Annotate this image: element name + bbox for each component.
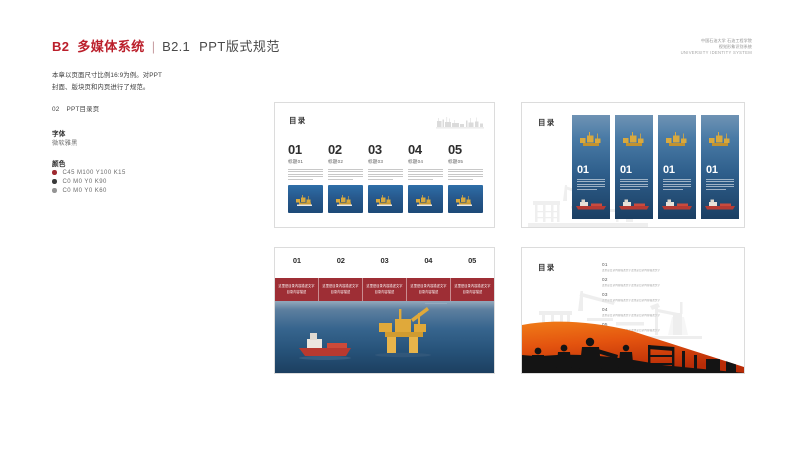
header-code: B2 xyxy=(52,39,69,54)
slide3-red-band: 这里是目录内容描述文字 目录内容描述 这里是目录内容描述文字 目录内容描述 这里… xyxy=(275,278,494,301)
header-sub-title: PPT版式规范 xyxy=(199,36,280,55)
column-text-lines xyxy=(288,169,323,180)
intro-text: 本章以页面尺寸比例16:9为例。对PPT 封面、版块页和内页进行了规范。 xyxy=(52,70,162,94)
color-swatch-list: C45 M100 Y100 K15 C0 M0 Y0 K90 C0 M0 Y0 … xyxy=(52,168,126,195)
column-number: 03 xyxy=(368,143,403,156)
slide4-item: 01 这里是目录内容描述文字这里是目录内容描述文字 xyxy=(602,262,728,272)
card-number: 01 xyxy=(663,165,675,176)
column-number: 04 xyxy=(408,143,443,156)
swatch-dot xyxy=(52,179,57,184)
slide4-heading: 目录 xyxy=(538,262,555,273)
slide3-number: 04 xyxy=(406,256,450,265)
band-line-1: 这里是目录内容描述文字 xyxy=(366,284,402,290)
slide1-column: 03 标题03 xyxy=(368,143,403,213)
slide1-column: 02 标题02 xyxy=(328,143,363,213)
column-number: 05 xyxy=(448,143,483,156)
band-cell: 这里是目录内容描述文字 目录内容描述 xyxy=(275,278,319,301)
oil-rig-skyline-icon xyxy=(436,115,484,129)
band-cell: 这里是目录内容描述文字 目录内容描述 xyxy=(319,278,363,301)
offshore-scene-graphic xyxy=(275,301,494,373)
supply-vessel-icon xyxy=(660,199,694,210)
supply-vessel-graphic xyxy=(299,333,351,356)
slide1-heading: 目录 xyxy=(289,115,306,126)
band-line-1: 这里是目录内容描述文字 xyxy=(278,284,314,290)
color-heading: 颜色 xyxy=(52,158,66,168)
column-label: 标题03 xyxy=(368,159,403,165)
slide4-item: 02 这里是目录内容描述文字这里是目录内容描述文字 xyxy=(602,277,728,287)
column-text-lines xyxy=(368,169,403,180)
header-divider: | xyxy=(152,39,155,54)
column-label: 标题04 xyxy=(408,159,443,165)
band-line-1: 这里是目录内容描述文字 xyxy=(410,284,446,290)
column-label: 标题02 xyxy=(328,159,363,165)
slide1-column: 04 标题04 xyxy=(408,143,443,213)
band-line-2: 目录内容描述 xyxy=(410,290,446,296)
band-line-2: 目录内容描述 xyxy=(366,290,402,296)
swatch-label: C0 M0 Y0 K90 xyxy=(63,179,107,185)
slide3-number-row: 01 02 03 04 05 xyxy=(275,256,494,265)
slide1-column: 05 标题05 xyxy=(448,143,483,213)
slide-preview-4[interactable]: 目录 01 这里是目录内容描述文字这里是目录内容描述文字 02 这里是目录内容描… xyxy=(521,247,745,374)
card-text-lines xyxy=(663,179,691,191)
card-text-lines xyxy=(577,179,605,191)
section-number: 02 xyxy=(52,106,60,113)
swatch-dot xyxy=(52,188,57,193)
card-number: 01 xyxy=(706,165,718,176)
header-sub-code: B2.1 xyxy=(162,39,190,54)
page-header: B2 多媒体系统 | B2.1 PPT版式规范 xyxy=(52,36,280,55)
slide3-number: 02 xyxy=(319,256,363,265)
slide2-heading: 目录 xyxy=(538,117,555,128)
band-line-1: 这里是目录内容描述文字 xyxy=(454,284,490,290)
color-swatch-row: C45 M100 Y100 K15 xyxy=(52,168,126,177)
item-number: 02 xyxy=(602,277,728,282)
band-cell: 这里是目录内容描述文字 目录内容描述 xyxy=(451,278,494,301)
column-label: 标题01 xyxy=(288,159,323,165)
slide2-card: 01 xyxy=(572,115,610,219)
column-text-lines xyxy=(448,169,483,180)
slide-preview-1[interactable]: 目录 01 标题01 xyxy=(274,102,495,228)
supply-vessel-icon xyxy=(703,199,737,210)
band-line-2: 目录内容描述 xyxy=(278,290,314,296)
guideline-page: B2 多媒体系统 | B2.1 PPT版式规范 中国石油大学 石油工程学院 视觉… xyxy=(0,0,799,450)
band-line-1: 这里是目录内容描述文字 xyxy=(322,284,358,290)
column-number: 01 xyxy=(288,143,323,156)
column-label: 标题05 xyxy=(448,159,483,165)
color-swatch-row: C0 M0 Y0 K60 xyxy=(52,186,126,195)
card-number: 01 xyxy=(577,165,589,176)
sunset-silhouette-graphic xyxy=(522,315,744,373)
slide2-card: 01 xyxy=(658,115,696,219)
font-heading: 字体 xyxy=(52,128,66,138)
slide1-columns: 01 标题01 02 标题02 03 标题03 xyxy=(288,143,483,213)
slide-preview-3[interactable]: 01 02 03 04 05 这里是目录内容描述文字 目录内容描述 这里是目录内… xyxy=(274,247,495,374)
column-text-lines xyxy=(408,169,443,180)
card-text-lines xyxy=(706,179,734,191)
band-cell: 这里是目录内容描述文字 目录内容描述 xyxy=(363,278,407,301)
color-swatch-row: C0 M0 Y0 K90 xyxy=(52,177,126,186)
slide2-cards: 01 01 01 01 xyxy=(572,115,739,219)
font-value: 微软雅黑 xyxy=(52,138,78,147)
card-text-lines xyxy=(620,179,648,191)
supply-vessel-icon xyxy=(617,199,651,210)
slide3-number: 03 xyxy=(363,256,407,265)
column-number: 02 xyxy=(328,143,363,156)
item-number: 01 xyxy=(602,262,728,267)
section-label: 02PPT目录页 xyxy=(52,104,99,113)
item-text: 这里是目录内容描述文字这里是目录内容描述文字 xyxy=(602,269,728,272)
card-number: 01 xyxy=(620,165,632,176)
swatch-label: C45 M100 Y100 K15 xyxy=(63,170,126,176)
column-thumbnail xyxy=(448,185,483,213)
slide3-number: 01 xyxy=(275,256,319,265)
band-line-2: 目录内容描述 xyxy=(322,290,358,296)
intro-line-1: 本章以页面尺寸比例16:9为例。对PPT xyxy=(52,70,162,82)
band-cell: 这里是目录内容描述文字 目录内容描述 xyxy=(407,278,451,301)
swatch-label: C0 M0 Y0 K60 xyxy=(63,188,107,194)
column-thumbnail xyxy=(368,185,403,213)
slide4-sunset-band xyxy=(522,315,744,373)
band-line-2: 目录内容描述 xyxy=(454,290,490,296)
slide3-number: 05 xyxy=(450,256,494,265)
section-name: PPT目录页 xyxy=(67,106,100,113)
swatch-dot xyxy=(52,170,57,175)
slide2-card: 01 xyxy=(701,115,739,219)
slide-preview-2[interactable]: 目录 01 xyxy=(521,102,745,228)
slide3-ocean-photo xyxy=(275,301,494,373)
slide2-card: 01 xyxy=(615,115,653,219)
column-thumbnail xyxy=(328,185,363,213)
intro-line-2: 封面、版块页和内页进行了规范。 xyxy=(52,82,162,94)
brand-mark: 中国石油大学 石油工程学院 视觉形象识别系统 UNIVERSITY IDENTI… xyxy=(681,38,752,56)
brand-line-3: UNIVERSITY IDENTITY SYSTEM xyxy=(681,50,752,56)
column-thumbnail xyxy=(408,185,443,213)
header-title: 多媒体系统 xyxy=(77,36,145,55)
supply-vessel-icon xyxy=(574,199,608,210)
column-text-lines xyxy=(328,169,363,180)
slide1-column: 01 标题01 xyxy=(288,143,323,213)
column-thumbnail xyxy=(288,185,323,213)
